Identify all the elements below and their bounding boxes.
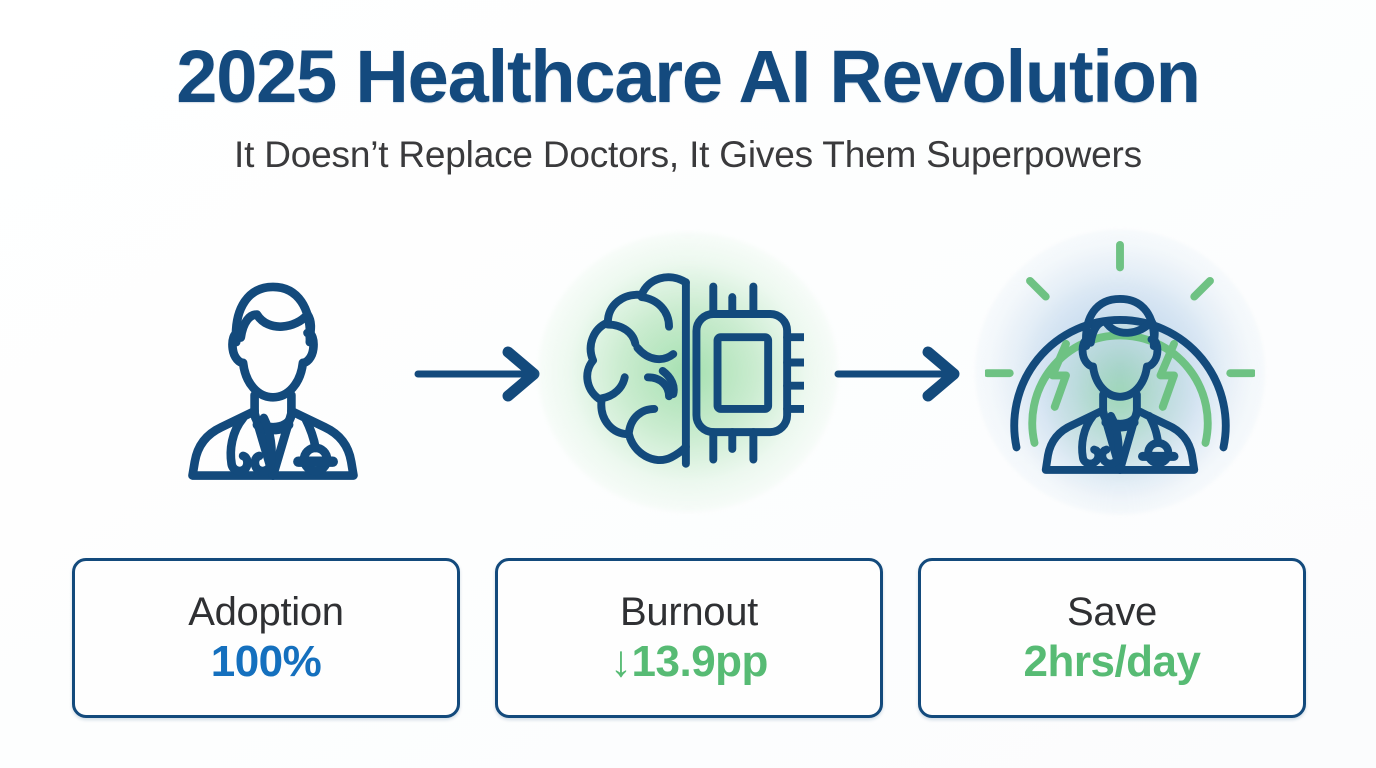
arrow-doctor-to-ai bbox=[412, 344, 552, 404]
stat-card-label: Burnout bbox=[620, 591, 758, 633]
stat-card-burnout[interactable]: Burnout ↓13.9pp bbox=[495, 558, 883, 718]
brain-chip-icon bbox=[572, 261, 804, 483]
transformation-flow bbox=[0, 232, 1376, 512]
flow-node-doctor bbox=[138, 232, 408, 512]
stat-card-label: Adoption bbox=[188, 591, 344, 633]
stat-card-value: ↓13.9pp bbox=[610, 639, 768, 685]
page-title: 2025 Healthcare AI Revolution bbox=[0, 40, 1376, 114]
stat-card-label: Save bbox=[1067, 591, 1157, 633]
stat-card-value: 2hrs/day bbox=[1024, 639, 1201, 685]
arrow-right-icon bbox=[412, 344, 552, 404]
flow-node-empowered-doctor bbox=[975, 232, 1265, 512]
header: 2025 Healthcare AI Revolution It Doesn’t… bbox=[0, 40, 1376, 176]
arrow-right-icon bbox=[832, 344, 972, 404]
arrow-ai-to-empowered bbox=[832, 344, 972, 404]
stat-card-value: 100% bbox=[211, 639, 322, 685]
flow-node-ai-brain bbox=[538, 232, 838, 512]
stat-card-save[interactable]: Save 2hrs/day bbox=[918, 558, 1306, 718]
stat-card-adoption[interactable]: Adoption 100% bbox=[72, 558, 460, 718]
stat-cards-row: Adoption 100% Burnout ↓13.9pp Save 2hrs/… bbox=[72, 558, 1306, 720]
doctor-icon bbox=[158, 257, 388, 487]
infographic-canvas: 2025 Healthcare AI Revolution It Doesn’t… bbox=[0, 0, 1376, 768]
page-subtitle: It Doesn’t Replace Doctors, It Gives The… bbox=[0, 134, 1376, 176]
empowered-doctor-icon bbox=[985, 238, 1255, 506]
